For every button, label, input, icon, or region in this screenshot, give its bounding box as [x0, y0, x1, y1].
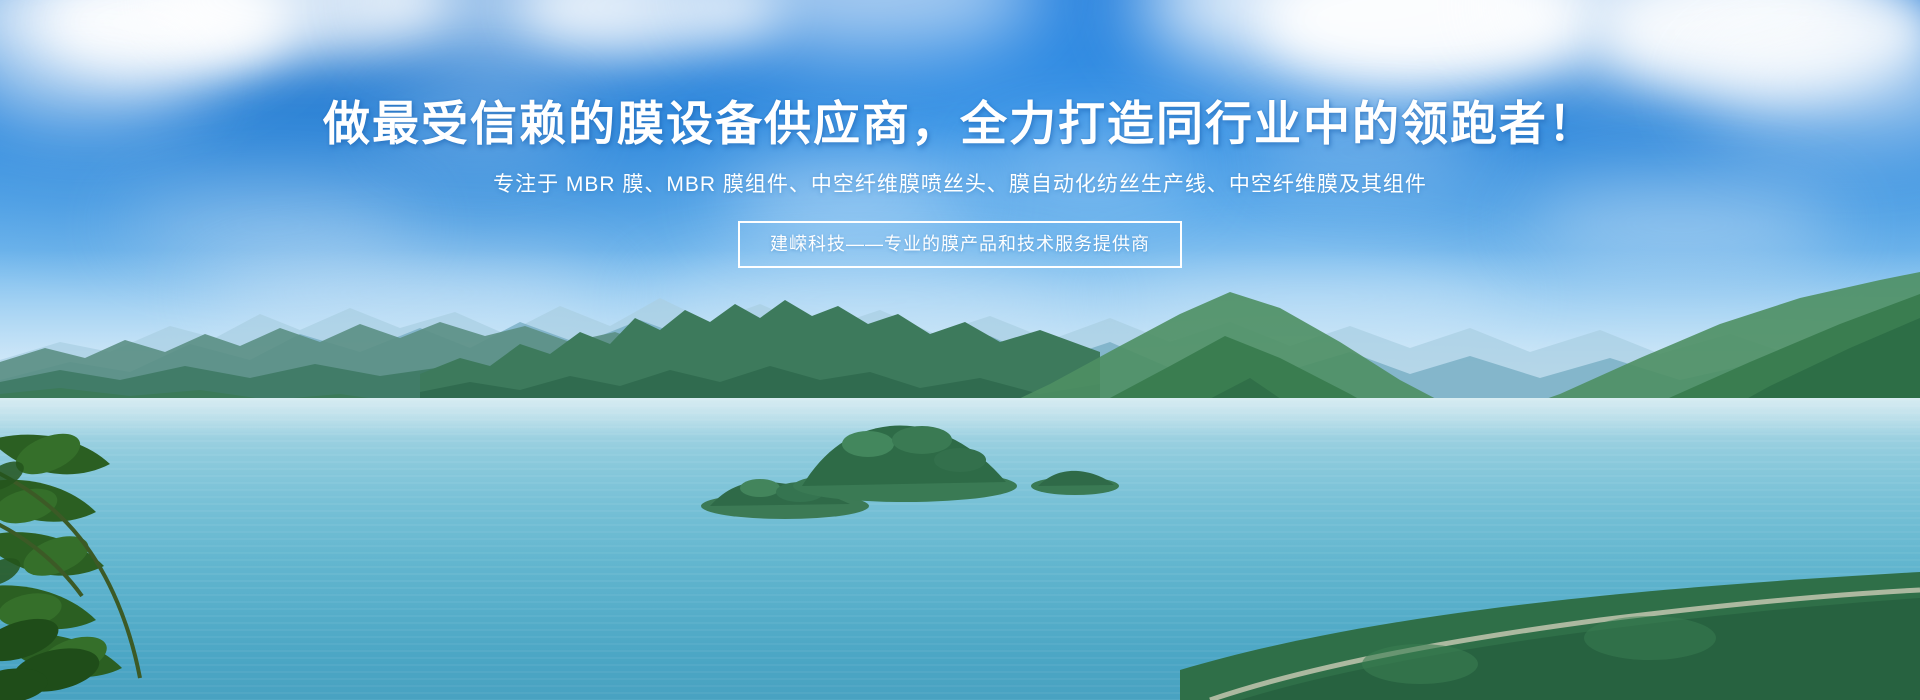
right-shoreline — [1180, 560, 1920, 700]
island-tiny-right — [1030, 466, 1120, 496]
hero-tagline-box: 建嵘科技——专业的膜产品和技术服务提供商 — [738, 221, 1182, 268]
hero-banner: 做最受信赖的膜设备供应商，全力打造同行业中的领跑者！ 专注于 MBR 膜、MBR… — [0, 0, 1920, 700]
hero-subtitle: 专注于 MBR 膜、MBR 膜组件、中空纤维膜喷丝头、膜自动化纺丝生产线、中空纤… — [493, 174, 1427, 195]
island-large-center — [790, 416, 1020, 504]
page-title: 做最受信赖的膜设备供应商，全力打造同行业中的领跑者！ — [323, 100, 1597, 147]
foreground-foliage-corner — [0, 600, 200, 700]
